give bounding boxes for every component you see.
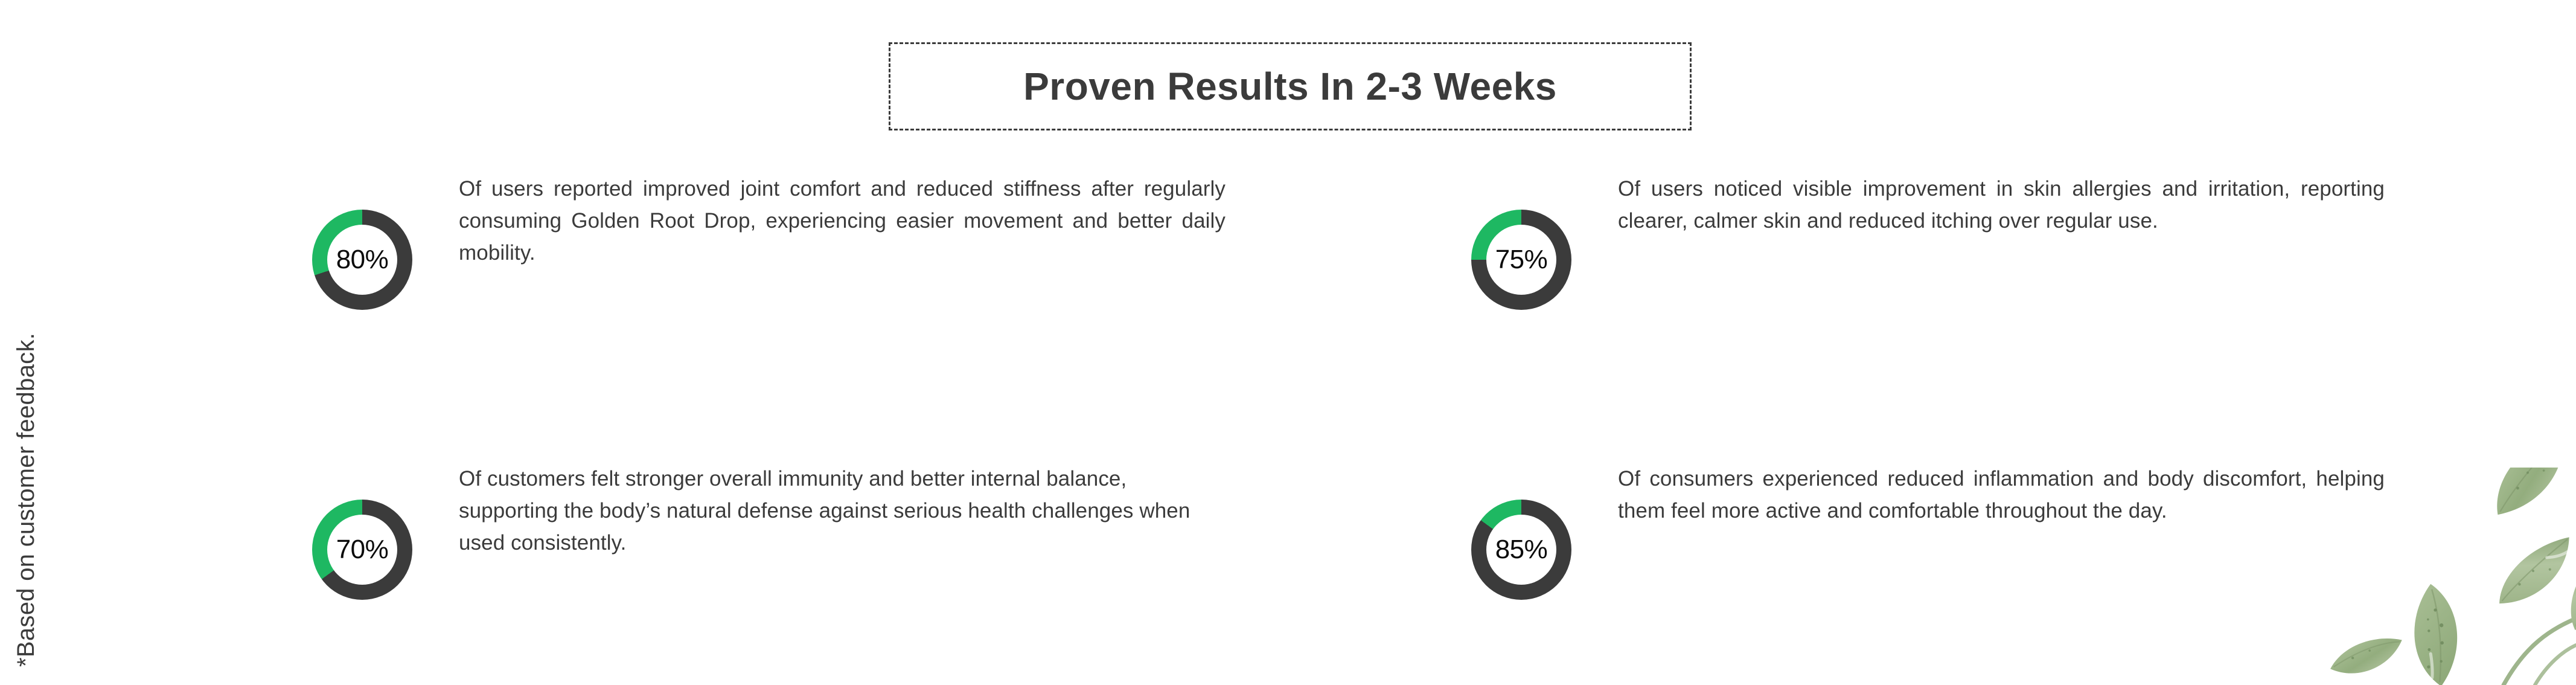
results-infographic: *Based on customer feedback. Proven Resu… — [0, 0, 2576, 685]
donut-center: 75% — [1486, 225, 1556, 295]
donut-chart-container: 75% — [1425, 169, 1618, 350]
page-title-box: Proven Results In 2-3 Weeks — [889, 42, 1692, 130]
page-title: Proven Results In 2-3 Weeks — [1023, 64, 1557, 109]
stat-description: Of users noticed visible improvement in … — [1618, 169, 2385, 237]
stat-description: Of consumers experienced reduced inflamm… — [1618, 459, 2385, 527]
stat-card-grid: 80% Of users reported improved joint com… — [266, 169, 2379, 640]
donut-chart: 80% — [312, 210, 412, 310]
donut-chart-container: 80% — [266, 169, 459, 350]
footnote-vertical-text: *Based on customer feedback. — [0, 0, 52, 685]
donut-chart: 75% — [1471, 210, 1571, 310]
donut-chart: 85% — [1471, 500, 1571, 600]
donut-center: 70% — [327, 515, 397, 585]
donut-chart-container: 85% — [1425, 459, 1618, 640]
donut-percent-label: 85% — [1495, 536, 1548, 563]
donut-percent-label: 70% — [336, 536, 389, 563]
stat-card: 75% Of users noticed visible improvement… — [1425, 169, 2385, 350]
stat-description: Of users reported improved joint comfort… — [459, 169, 1226, 269]
donut-percent-label: 80% — [336, 246, 389, 273]
donut-chart-container: 70% — [266, 459, 459, 640]
donut-chart: 70% — [312, 500, 412, 600]
donut-percent-label: 75% — [1495, 246, 1548, 273]
stat-card: 70% Of customers felt stronger overall i… — [266, 459, 1226, 640]
stat-card: 85% Of consumers experienced reduced inf… — [1425, 459, 2385, 640]
stat-card: 80% Of users reported improved joint com… — [266, 169, 1226, 350]
donut-center: 85% — [1486, 515, 1556, 585]
stat-description: Of customers felt stronger overall immun… — [459, 459, 1226, 559]
donut-center: 80% — [327, 225, 397, 295]
